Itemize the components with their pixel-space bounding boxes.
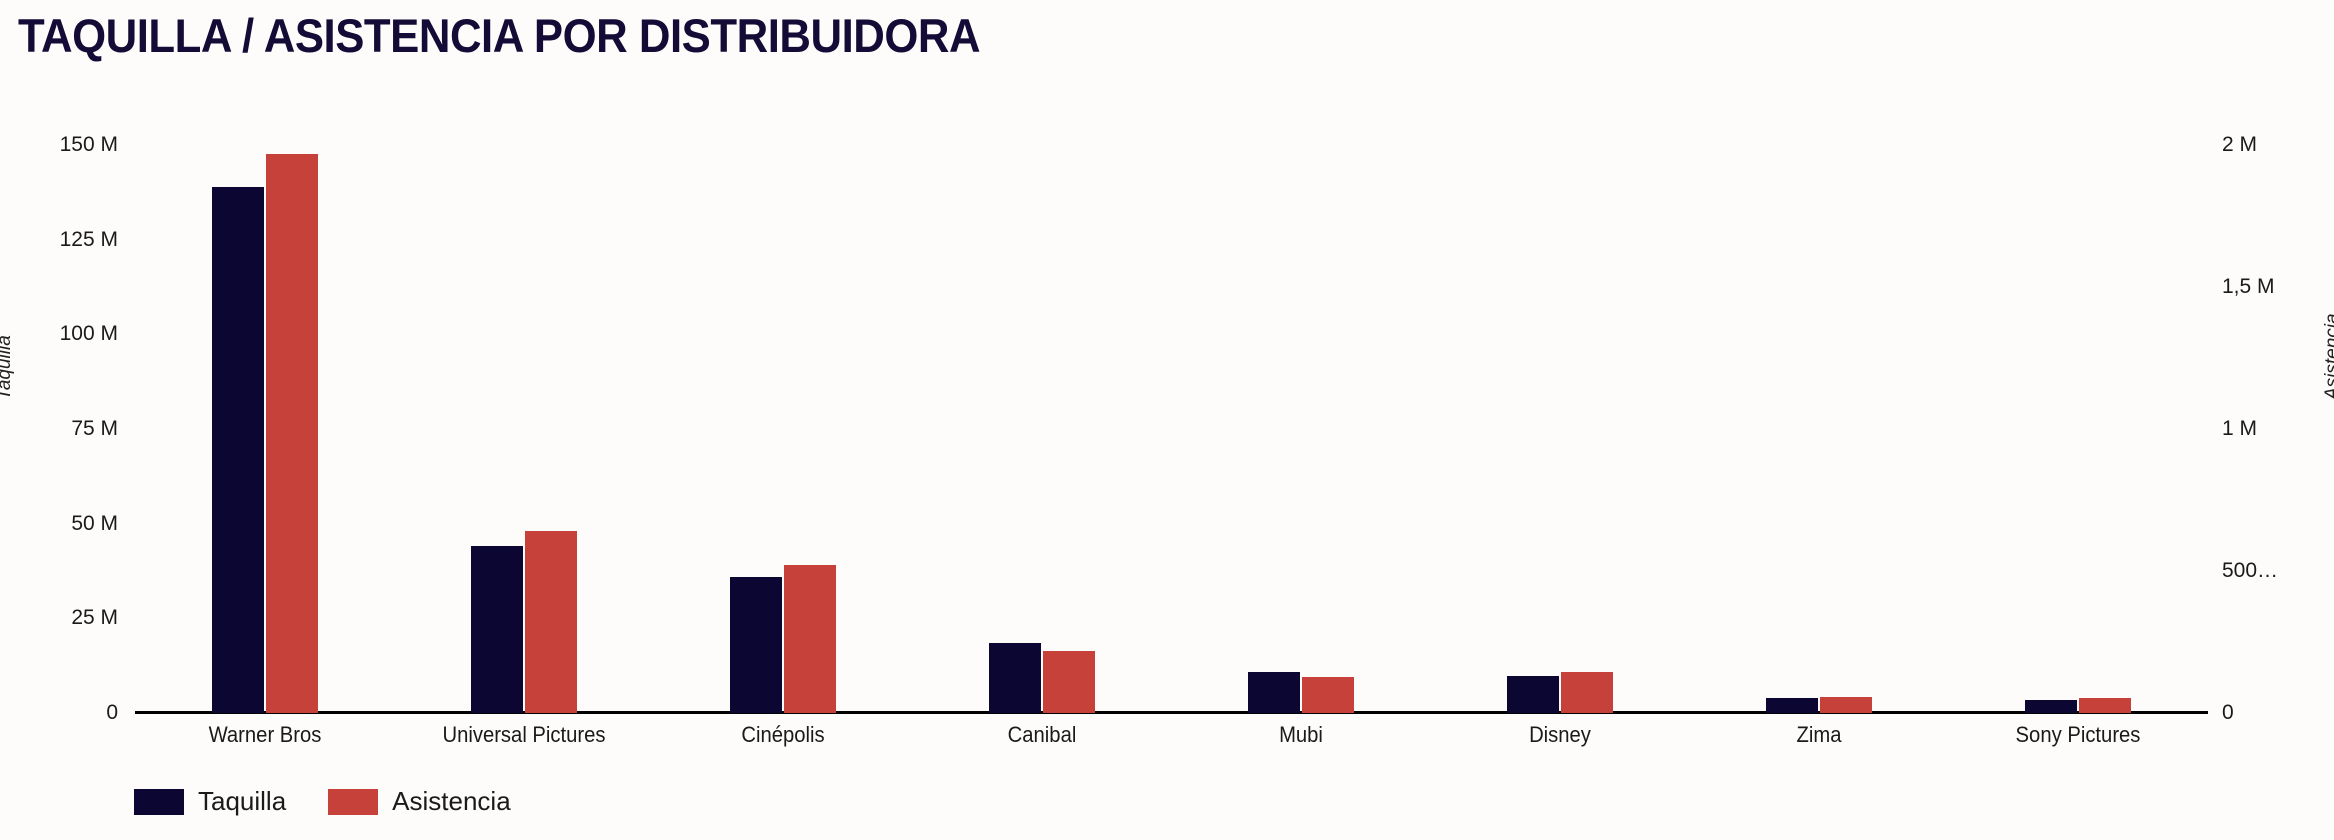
- bar-taquilla[interactable]: [1766, 698, 1818, 713]
- x-axis-category-label: Warner Bros: [208, 722, 321, 748]
- left-axis-tick-label: 0: [8, 701, 118, 725]
- bar-asistencia[interactable]: [525, 531, 577, 713]
- left-axis-tick-label: 50 M: [8, 512, 118, 536]
- legend-item[interactable]: Asistencia: [328, 786, 511, 817]
- plot-area: [135, 100, 2208, 713]
- legend-item-label: Asistencia: [392, 786, 511, 817]
- left-axis-tick-label: 125 M: [8, 228, 118, 252]
- x-axis-category-label: Mubi: [1279, 722, 1323, 748]
- bar-taquilla[interactable]: [989, 643, 1041, 713]
- legend-item[interactable]: Taquilla: [134, 786, 286, 817]
- right-axis-tick-label: 1,5 M: [2222, 275, 2332, 299]
- right-axis-tick-label: 1 M: [2222, 417, 2332, 441]
- bar-asistencia[interactable]: [1561, 672, 1613, 713]
- x-axis-category-label: Universal Pictures: [442, 722, 605, 748]
- right-axis-tick-label: 2 M: [2222, 133, 2332, 157]
- x-axis-category-label: Zima: [1797, 722, 1842, 748]
- bar-taquilla[interactable]: [212, 187, 264, 713]
- x-axis-category-label: Canibal: [1008, 722, 1077, 748]
- bar-asistencia[interactable]: [2079, 698, 2131, 713]
- left-axis-tick-label: 75 M: [8, 417, 118, 441]
- bar-taquilla[interactable]: [2025, 700, 2077, 713]
- legend-item-label: Taquilla: [198, 786, 286, 817]
- bar-asistencia[interactable]: [1043, 651, 1095, 713]
- right-axis-title: Asistencia: [2322, 313, 2334, 400]
- left-axis-tick-label: 100 M: [8, 322, 118, 346]
- x-axis-category-label: Cinépolis: [741, 722, 824, 748]
- bar-taquilla[interactable]: [1248, 672, 1300, 713]
- legend-swatch-asistencia: [328, 789, 378, 815]
- x-axis-category-label: Sony Pictures: [2016, 722, 2141, 748]
- legend: TaquillaAsistencia: [134, 786, 511, 817]
- left-axis-tick-label: 25 M: [8, 606, 118, 630]
- bar-asistencia[interactable]: [1302, 677, 1354, 713]
- left-axis-tick-label: 150 M: [8, 133, 118, 157]
- legend-swatch-taquilla: [134, 789, 184, 815]
- bar-taquilla[interactable]: [471, 546, 523, 713]
- page-title: TAQUILLA / ASISTENCIA POR DISTRIBUIDORA: [18, 8, 980, 63]
- right-axis-tick-label: 500…: [2222, 559, 2332, 583]
- bar-taquilla[interactable]: [730, 577, 782, 713]
- bar-taquilla[interactable]: [1507, 676, 1559, 713]
- bar-asistencia[interactable]: [784, 565, 836, 713]
- bar-asistencia[interactable]: [266, 154, 318, 713]
- right-axis-tick-label: 0: [2222, 701, 2332, 725]
- chart-page: TAQUILLA / ASISTENCIA POR DISTRIBUIDORA …: [0, 0, 2334, 840]
- bar-asistencia[interactable]: [1820, 697, 1872, 713]
- x-axis-category-label: Disney: [1529, 722, 1591, 748]
